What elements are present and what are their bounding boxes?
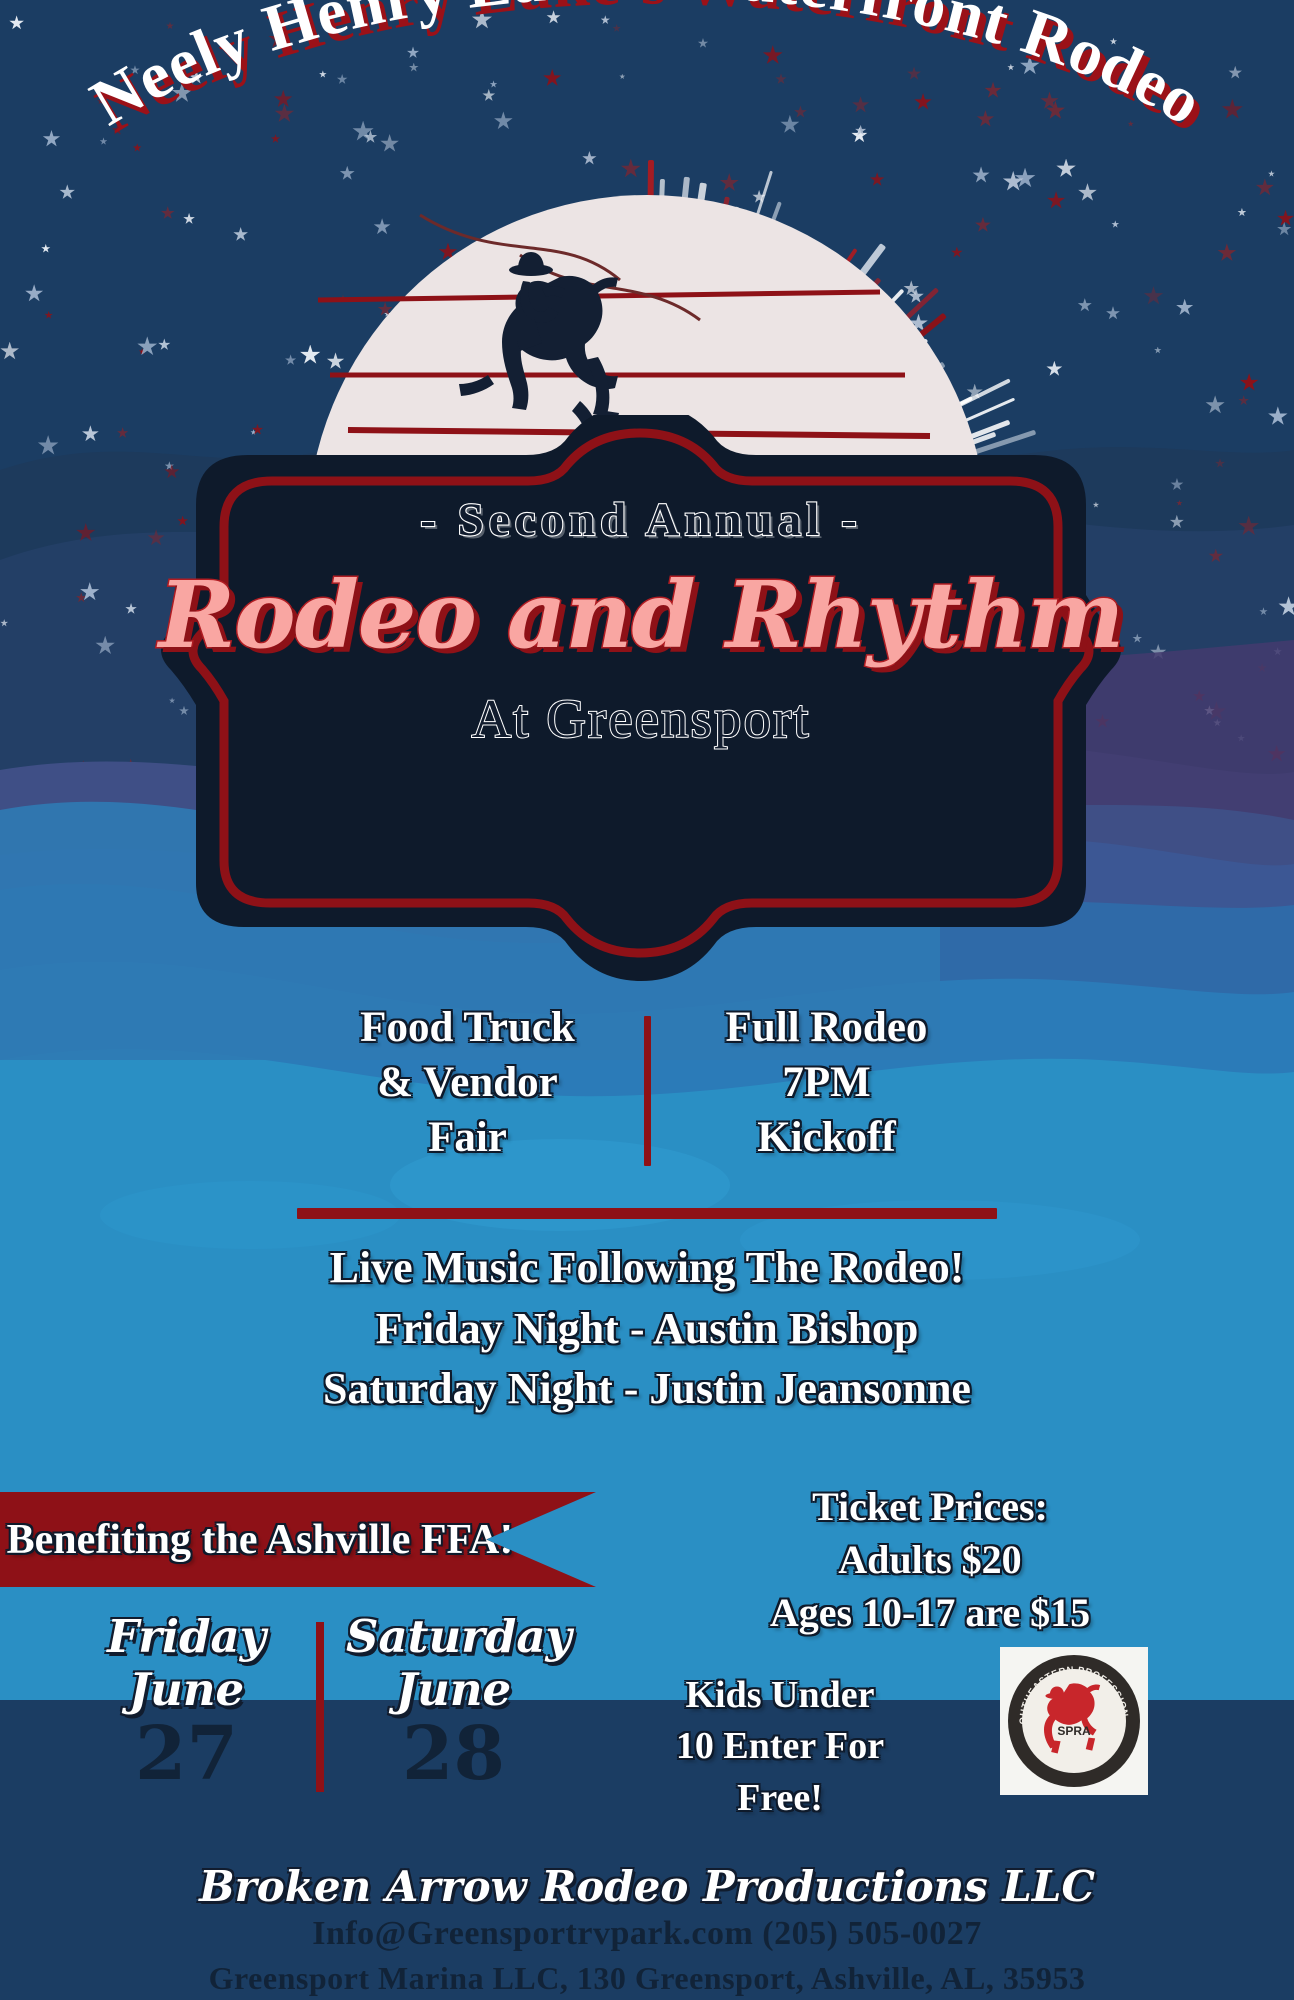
saturday-performer: Saturday Night - Justin Jeansonne — [0, 1359, 1294, 1420]
ticket-prices-block: Ticket Prices: Adults $20 Ages 10-17 are… — [600, 1480, 1260, 1640]
event-title: Rodeo and Rhythm — [136, 561, 1146, 669]
contact-line: Info@Greensportrvpark.com (205) 505-0027 — [0, 1911, 1294, 1957]
arched-headline: Neely Henry Lake's Waterfront Rodeo Neel… — [0, 0, 1294, 234]
spra-logo-artwork: SOUTHEASTERN PROFESSIONAL RODEO ASSOCIAT… — [1000, 1647, 1148, 1795]
poster-canvas: Neely Henry Lake's Waterfront Rodeo Neel… — [0, 0, 1294, 2000]
date-saturday-month: June — [346, 1663, 561, 1716]
benefit-ribbon-text: Benefiting the Ashville FFA! — [0, 1519, 520, 1561]
badge-kicker: - Second Annual - — [136, 493, 1146, 547]
footer-contact: Broken Arrow Rodeo Productions LLC Info@… — [0, 1862, 1294, 2000]
friday-performer: Friday Night - Austin Bishop — [0, 1299, 1294, 1360]
event-title-badge: - Second Annual - Rodeo and Rhythm At Gr… — [136, 415, 1146, 1035]
date-friday-month: June — [79, 1663, 294, 1716]
date-friday: Friday June 27 — [79, 1610, 294, 1794]
food-truck-column: Food Truck & Vendor Fair — [318, 1000, 618, 1165]
date-saturday: Saturday June 28 — [346, 1610, 561, 1794]
food-truck-line-3: Fair — [318, 1110, 618, 1165]
spra-logo-bottom-text: RODEO ASSOCIATION — [1028, 1733, 1120, 1770]
kids-free-line-3: Free! — [580, 1773, 980, 1824]
food-truck-line-2: & Vendor — [318, 1055, 618, 1110]
rodeo-time-line-3: Kickoff — [677, 1110, 977, 1165]
producer-name: Broken Arrow Rodeo Productions LLC — [0, 1862, 1294, 1911]
kids-free-block: Kids Under 10 Enter For Free! — [580, 1670, 980, 1824]
svg-text:RODEO ASSOCIATION: RODEO ASSOCIATION — [1028, 1733, 1120, 1770]
spra-logo: SOUTHEASTERN PROFESSIONAL RODEO ASSOCIAT… — [1000, 1647, 1148, 1795]
event-venue: At Greensport — [136, 687, 1146, 750]
svg-text:Neely Henry Lake's Waterfront: Neely Henry Lake's Waterfront Rodeo — [79, 0, 1216, 140]
food-truck-line-1: Food Truck — [318, 1000, 618, 1055]
bucking-horse-rider-silhouette — [430, 225, 680, 445]
address-line: Greensport Marina LLC, 130 Greensport, A… — [0, 1957, 1294, 2000]
info-column-divider — [644, 1016, 651, 1166]
kids-free-line-2: 10 Enter For — [580, 1721, 980, 1772]
date-divider — [316, 1622, 324, 1792]
date-saturday-day: Saturday — [346, 1610, 561, 1663]
ticket-prices-heading: Ticket Prices: — [600, 1480, 1260, 1533]
live-music-section: Live Music Following The Rodeo! Friday N… — [0, 1238, 1294, 1420]
event-info-columns: Food Truck & Vendor Fair Full Rodeo 7PM … — [0, 1000, 1294, 1166]
live-music-heading: Live Music Following The Rodeo! — [0, 1238, 1294, 1299]
rodeo-time-column: Full Rodeo 7PM Kickoff — [677, 1000, 977, 1165]
section-divider-rule — [297, 1208, 997, 1219]
kids-free-line-1: Kids Under — [580, 1670, 980, 1721]
date-friday-day: Friday — [79, 1610, 294, 1663]
arched-headline-text: Neely Henry Lake's Waterfront Rodeo — [79, 0, 1216, 140]
rodeo-time-line-1: Full Rodeo — [677, 1000, 977, 1055]
ticket-price-youth: Ages 10-17 are $15 — [600, 1586, 1260, 1639]
date-saturday-number: 28 — [346, 1716, 561, 1794]
spra-logo-monogram: SPRA — [1057, 1724, 1091, 1738]
event-dates: Friday June 27 Saturday June 28 — [60, 1610, 580, 1794]
ticket-price-adults: Adults $20 — [600, 1533, 1260, 1586]
rodeo-time-line-2: 7PM — [677, 1055, 977, 1110]
date-friday-number: 27 — [79, 1716, 294, 1794]
